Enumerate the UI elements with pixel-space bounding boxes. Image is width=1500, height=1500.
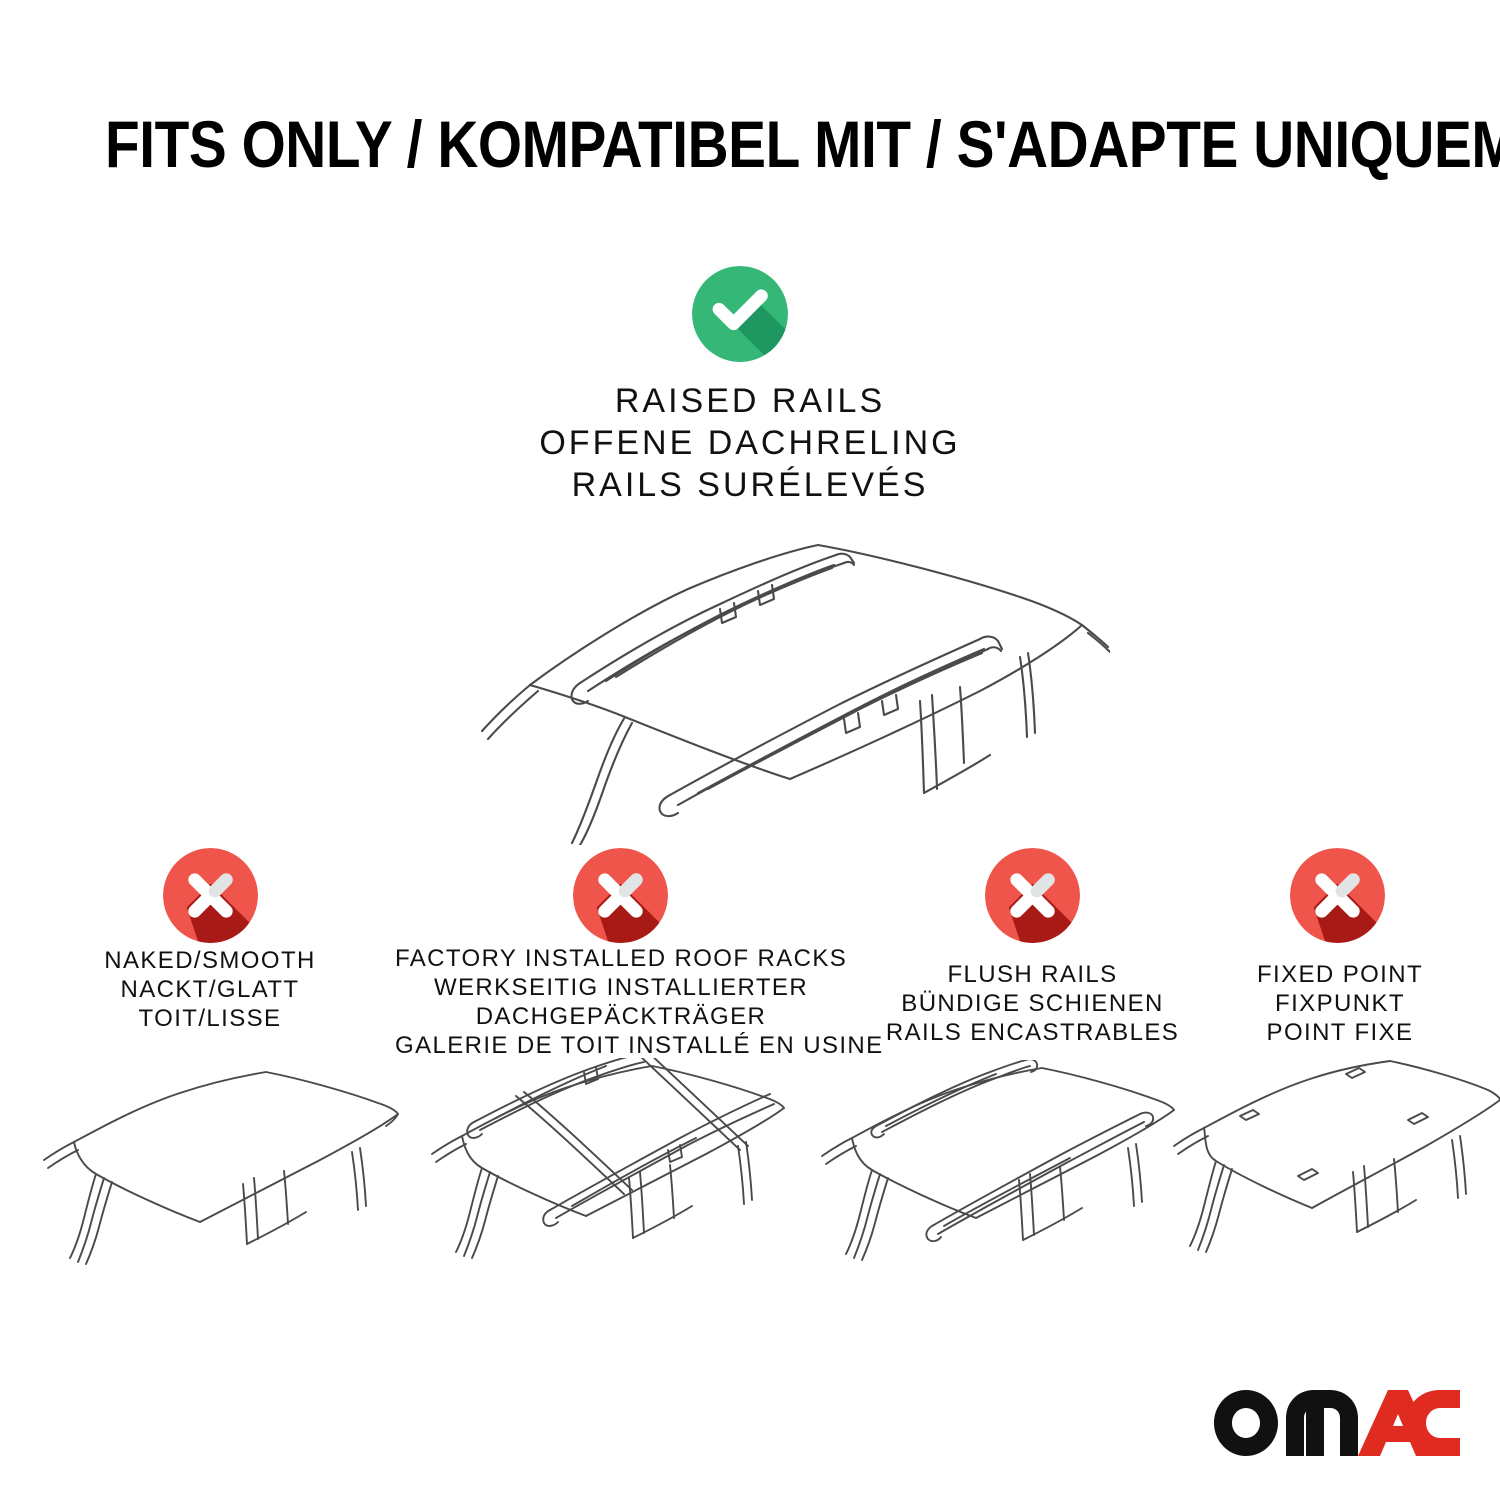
caption-line: FLUSH RAILS <box>855 960 1210 989</box>
caption-line: FIXPUNKT <box>1190 989 1490 1018</box>
caption-line: GALERIE DE TOIT INSTALLÉ EN USINE <box>395 1031 847 1060</box>
caption-line: TOIT/LISSE <box>0 1004 420 1033</box>
car-roof-fixed-point-illustration <box>1150 1060 1500 1295</box>
compatible-caption-line: RAILS SURÉLEVÉS <box>0 464 1500 506</box>
caption-line: FIXED POINT <box>1190 960 1490 989</box>
caption-line: NAKED/SMOOTH <box>0 946 420 975</box>
caption-line: BÜNDIGE SCHIENEN <box>855 989 1210 1018</box>
compatible-caption: RAISED RAILS OFFENE DACHRELING RAILS SUR… <box>0 380 1500 506</box>
caption-line: DACHGEPÄCKTRÄGER <box>395 1002 847 1031</box>
caption-line: WERKSEITIG INSTALLIERTER <box>395 973 847 1002</box>
factory-roof-racks-caption: FACTORY INSTALLED ROOF RACKS WERKSEITIG … <box>395 944 847 1060</box>
compatible-caption-line: OFFENE DACHRELING <box>0 422 1500 464</box>
car-roof-raised-rails-illustration <box>420 505 1110 845</box>
naked-smooth-caption: NAKED/SMOOTH NACKT/GLATT TOIT/LISSE <box>0 946 420 1033</box>
x-circle-icon <box>985 848 1080 943</box>
x-circle-icon <box>573 848 668 943</box>
car-roof-naked-smooth-illustration <box>30 1060 400 1295</box>
car-roof-flush-rails-illustration <box>800 1060 1180 1295</box>
fixed-point-caption: FIXED POINT FIXPUNKT POINT FIXE <box>1190 960 1490 1047</box>
fitment-compatibility-graphic: FITS ONLY / KOMPATIBEL MIT / S'ADAPTE UN… <box>0 0 1500 1500</box>
flush-rails-caption: FLUSH RAILS BÜNDIGE SCHIENEN RAILS ENCAS… <box>855 960 1210 1047</box>
x-circle-icon <box>163 848 258 943</box>
check-circle-icon <box>692 266 788 362</box>
caption-line: FACTORY INSTALLED ROOF RACKS <box>395 944 847 973</box>
caption-line: NACKT/GLATT <box>0 975 420 1004</box>
x-circle-icon <box>1290 848 1385 943</box>
car-roof-factory-roof-racks-illustration <box>412 1058 792 1296</box>
caption-line: RAILS ENCASTRABLES <box>855 1018 1210 1047</box>
caption-line: POINT FIXE <box>1190 1018 1490 1047</box>
compatible-caption-line: RAISED RAILS <box>0 380 1500 422</box>
omac-logo <box>1212 1388 1462 1458</box>
page-title: FITS ONLY / KOMPATIBEL MIT / S'ADAPTE UN… <box>105 108 1395 180</box>
